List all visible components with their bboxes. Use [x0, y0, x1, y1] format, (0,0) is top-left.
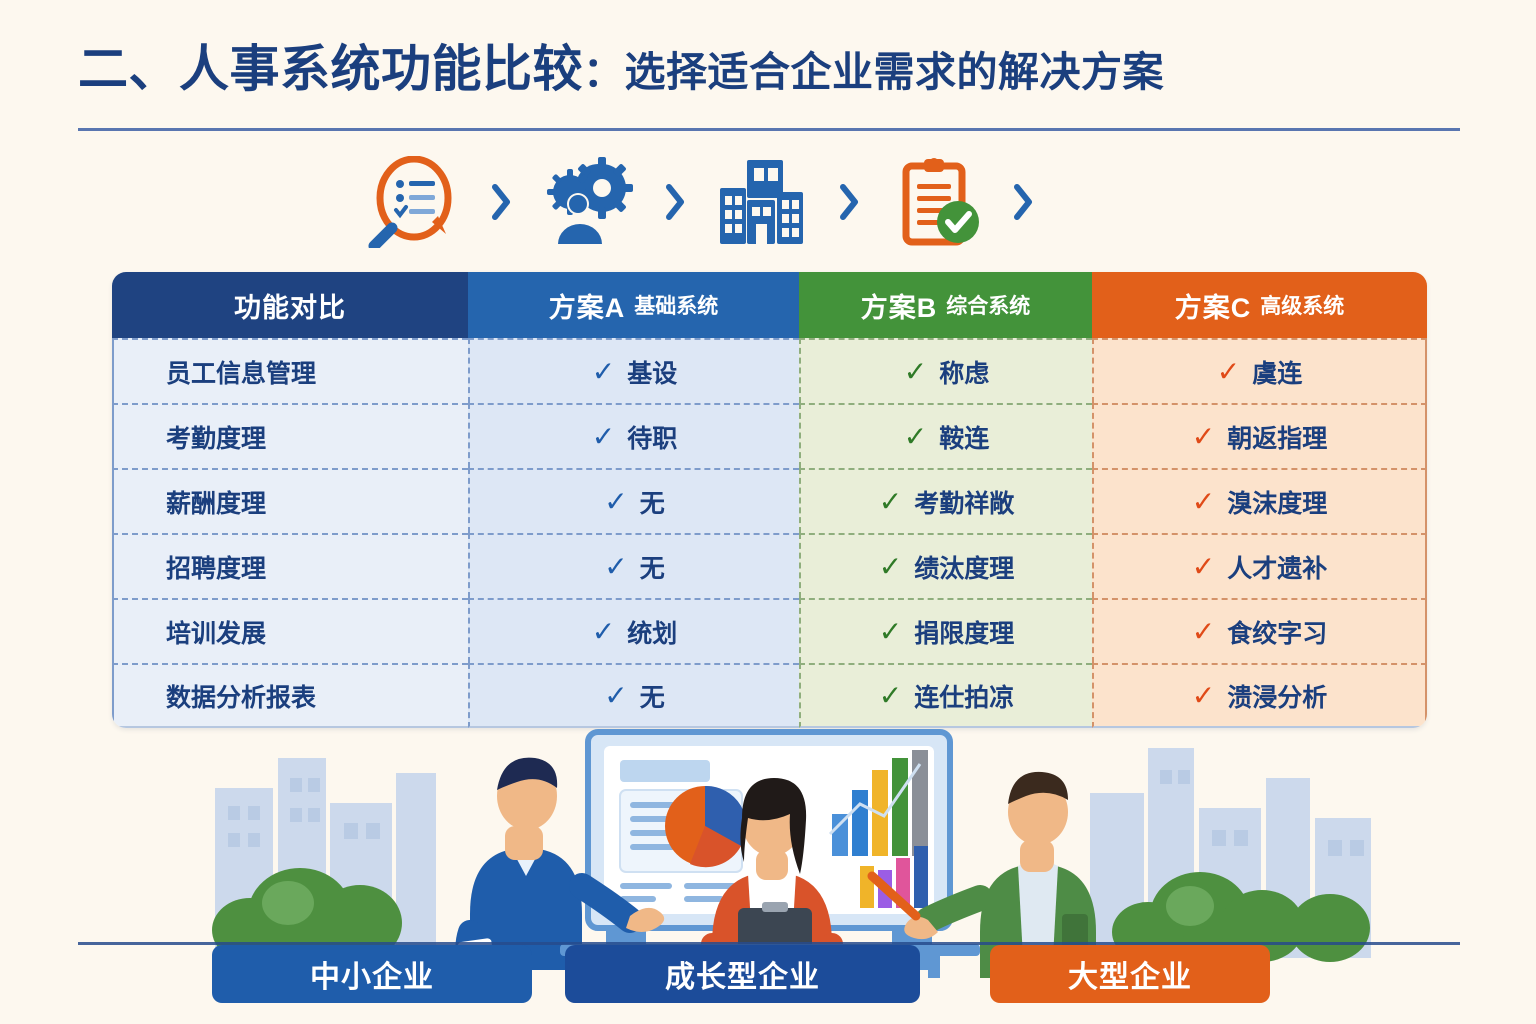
- plan-b-value: 考勤祥敞: [914, 484, 1014, 520]
- check-icon: ✓: [1192, 423, 1215, 451]
- plan-c-value: 食绞字习: [1227, 614, 1327, 650]
- table-header-plan-c: 方案C 高级系统: [1092, 272, 1427, 338]
- plan-a-value: 统划: [627, 614, 677, 650]
- plan-c-value: 溴沫度理: [1227, 484, 1327, 520]
- title-separator: ：: [583, 49, 625, 95]
- check-icon: ✓: [1217, 358, 1240, 386]
- plan-a-value: 待职: [627, 419, 677, 455]
- check-icon: ✓: [1192, 618, 1215, 646]
- table-header-plan-a: 方案A 基础系统: [468, 272, 799, 338]
- chevron-right-icon-1: [481, 152, 521, 252]
- plan-c-cell: ✓食绞字习: [1092, 598, 1427, 663]
- plan-a-value: 无: [640, 549, 665, 585]
- pill-large-enterprise[interactable]: 大型企业: [990, 945, 1270, 1003]
- plan-c-cell: ✓朝返指理: [1092, 403, 1427, 468]
- plan-b-cell: ✓鞍连: [799, 403, 1092, 468]
- plan-a-value: 基设: [627, 354, 677, 390]
- table-header-plan-b: 方案B 综合系统: [799, 272, 1092, 338]
- plan-a-value: 无: [640, 484, 665, 520]
- plan-b-value: 称虑: [939, 354, 989, 390]
- plan-a-value: 无: [640, 678, 665, 714]
- check-icon: ✓: [1192, 488, 1215, 516]
- table-row: 考勤度理 ✓待职 ✓鞍连 ✓朝返指理: [112, 403, 1427, 468]
- plan-a-cell: ✓基设: [468, 338, 799, 403]
- table-header-feature: 功能对比: [112, 272, 468, 338]
- plan-b-cell: ✓考勤祥敞: [799, 468, 1092, 533]
- plan-b-value: 连仕拍凉: [914, 678, 1014, 714]
- clipboard-check-icon: [877, 152, 995, 252]
- title-underline-rule: [78, 128, 1460, 131]
- check-icon: ✓: [904, 358, 927, 386]
- plan-a-cell: ✓待职: [468, 403, 799, 468]
- check-icon: ✓: [879, 488, 902, 516]
- plan-c-cell: ✓人才遗补: [1092, 533, 1427, 598]
- audience-pill-row: 中小企业 成长型企业 大型企业: [0, 945, 1536, 1007]
- plan-b-value: 鞍连: [939, 419, 989, 455]
- feature-label: 招聘度理: [112, 533, 468, 598]
- table-header-row: 功能对比 方案A 基础系统 方案B 综合系统 方案C 高级系统: [112, 272, 1427, 338]
- chevron-right-icon-3: [829, 152, 869, 252]
- process-icon-strip: [355, 152, 1075, 252]
- office-buildings-icon: [703, 152, 821, 252]
- plan-b-cell: ✓绩汰度理: [799, 533, 1092, 598]
- title-main-text: 二、人事系统功能比较: [78, 41, 583, 97]
- table-row: 培训发展 ✓统划 ✓捐限度理 ✓食绞字习: [112, 598, 1427, 663]
- plan-c-value: 朝返指理: [1227, 419, 1327, 455]
- plan-c-cell: ✓溴沫度理: [1092, 468, 1427, 533]
- check-icon: ✓: [904, 423, 927, 451]
- check-icon: ✓: [1192, 553, 1215, 581]
- pill-small-medium-enterprise[interactable]: 中小企业: [212, 945, 532, 1003]
- user-gears-icon: [529, 152, 647, 252]
- chevron-right-icon-4: [1003, 152, 1043, 252]
- plan-b-value: 绩汰度理: [914, 549, 1014, 585]
- plan-a-cell: ✓统划: [468, 598, 799, 663]
- plan-c-value: 虞连: [1252, 354, 1302, 390]
- feature-label: 薪酬度理: [112, 468, 468, 533]
- plan-c-value: 溃浸分析: [1227, 678, 1327, 714]
- plan-b-cell: ✓捐限度理: [799, 598, 1092, 663]
- plan-a-cell: ✓无: [468, 533, 799, 598]
- check-icon: ✓: [604, 488, 627, 516]
- table-row: 薪酬度理 ✓无 ✓考勤祥敞 ✓溴沫度理: [112, 468, 1427, 533]
- check-icon: ✓: [1192, 682, 1215, 710]
- check-icon: ✓: [879, 618, 902, 646]
- plan-b-value: 捐限度理: [914, 614, 1014, 650]
- feature-label: 员工信息管理: [112, 338, 468, 403]
- plan-a-cell: ✓无: [468, 468, 799, 533]
- table-row: 员工信息管理 ✓基设 ✓称虑 ✓虞连: [112, 338, 1427, 403]
- check-icon: ✓: [604, 682, 627, 710]
- table-row: 招聘度理 ✓无 ✓绩汰度理 ✓人才遗补: [112, 533, 1427, 598]
- page-title: 二、人事系统功能比较：选择适合企业需求的解决方案: [78, 44, 1458, 94]
- feature-label: 培训发展: [112, 598, 468, 663]
- business-team-whiteboard-illustration: [0, 718, 1536, 978]
- check-icon: ✓: [879, 682, 902, 710]
- plan-c-value: 人才遗补: [1227, 549, 1327, 585]
- title-subtitle-text: 选择适合企业需求的解决方案: [625, 49, 1165, 95]
- check-icon: ✓: [592, 423, 615, 451]
- check-icon: ✓: [604, 553, 627, 581]
- check-icon: ✓: [879, 553, 902, 581]
- pill-growth-enterprise[interactable]: 成长型企业: [565, 945, 920, 1003]
- plan-c-cell: ✓虞连: [1092, 338, 1427, 403]
- chevron-right-icon-2: [655, 152, 695, 252]
- feature-label: 考勤度理: [112, 403, 468, 468]
- plan-b-cell: ✓称虑: [799, 338, 1092, 403]
- magnifier-checklist-icon: [355, 152, 473, 252]
- check-icon: ✓: [592, 358, 615, 386]
- comparison-table: 功能对比 方案A 基础系统 方案B 综合系统 方案C 高级系统 员工信息管理 ✓…: [112, 272, 1427, 728]
- check-icon: ✓: [592, 618, 615, 646]
